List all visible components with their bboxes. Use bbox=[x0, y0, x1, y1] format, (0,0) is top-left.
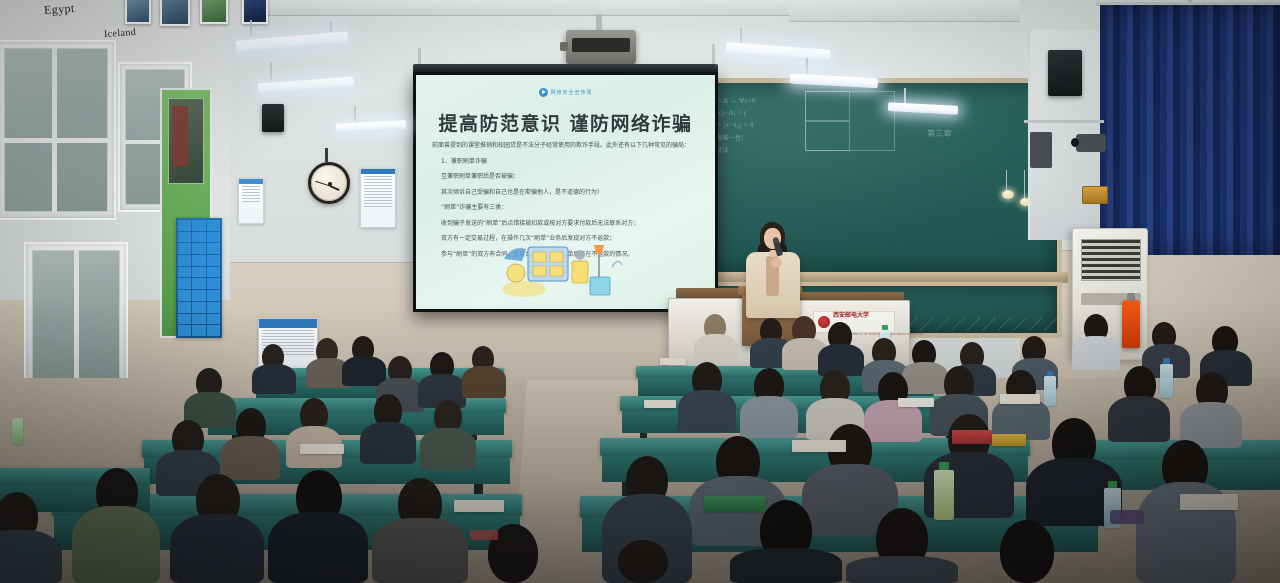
security-camera bbox=[1076, 134, 1106, 152]
light-rod-4 bbox=[354, 106, 356, 122]
student-body bbox=[268, 512, 368, 583]
open-book bbox=[1000, 394, 1040, 404]
student-body bbox=[360, 422, 416, 464]
student-body bbox=[1072, 336, 1120, 370]
open-book bbox=[792, 440, 846, 452]
photo-label-iceland: Iceland bbox=[104, 27, 137, 40]
slide-line-4: “刷单”诈骗主要有三类： bbox=[432, 203, 701, 214]
student-body bbox=[0, 530, 62, 583]
notice-safety bbox=[238, 178, 264, 224]
window-left-1 bbox=[0, 40, 116, 220]
water-bottle bbox=[934, 470, 954, 520]
open-book bbox=[898, 398, 934, 407]
wall-alarm-panel bbox=[1082, 186, 1108, 204]
photo-label-egypt: Egypt bbox=[44, 1, 76, 18]
clock-mount bbox=[325, 148, 328, 162]
water-bottle bbox=[1044, 376, 1056, 406]
slide-line-3: 其次倾诉自己受骗和自己也是在欺骗他人，是不道德的行为） bbox=[432, 188, 701, 199]
wall-photo-0 bbox=[125, 0, 151, 24]
student-body bbox=[730, 548, 842, 583]
pencil-case bbox=[1110, 510, 1144, 524]
door-poster bbox=[172, 106, 188, 166]
light-rod-7 bbox=[904, 88, 906, 104]
projection-screen: 网络安全宣传周 提高防范意识 谨防网络诈骗 前面曾提到的课堂推销和校园贷是不法分… bbox=[413, 72, 718, 312]
light-rod-3 bbox=[270, 62, 272, 80]
student-body bbox=[740, 396, 798, 438]
slide-logo: 网络安全宣传周 bbox=[538, 88, 592, 97]
slide-line-2: 互兼职刷单兼职后是否被骗： bbox=[432, 172, 701, 183]
open-book bbox=[644, 400, 676, 408]
slide-line-1: 1、兼职刷单诈骗 bbox=[432, 157, 701, 168]
slide-content: 网络安全宣传周 提高防范意识 谨防网络诈骗 前面曾提到的课堂推销和校园贷是不法分… bbox=[416, 75, 715, 309]
student-body bbox=[678, 390, 736, 432]
window-left-2 bbox=[24, 242, 128, 392]
wall-mounted-box bbox=[1030, 132, 1052, 168]
red-notebook bbox=[952, 430, 992, 444]
water-bottle bbox=[1160, 364, 1173, 398]
student-body bbox=[342, 356, 386, 386]
ceiling-beam bbox=[230, 0, 790, 16]
classroom-photo: Egypt Iceland bbox=[0, 0, 1280, 583]
wall-photo-2 bbox=[200, 0, 228, 24]
slide-title: 提高防范意识 谨防网络诈骗 bbox=[416, 109, 715, 136]
open-book bbox=[660, 358, 686, 365]
student-body bbox=[902, 362, 948, 394]
yellow-notebook bbox=[992, 434, 1026, 446]
student-head bbox=[1000, 520, 1054, 583]
fire-extinguisher bbox=[1122, 300, 1140, 348]
light-rod-6 bbox=[806, 58, 808, 76]
presenter bbox=[744, 222, 802, 318]
student-body bbox=[220, 436, 280, 480]
projector-mount bbox=[596, 14, 602, 30]
window-curtain bbox=[1100, 5, 1280, 255]
right-speaker bbox=[1048, 50, 1082, 96]
slide-logo-text: 网络安全宣传周 bbox=[550, 89, 592, 96]
student-body bbox=[694, 334, 738, 364]
student-head bbox=[618, 540, 668, 583]
pencil-case bbox=[470, 530, 498, 540]
open-book bbox=[300, 444, 344, 454]
university-seal-icon bbox=[818, 316, 830, 328]
slide-illustration bbox=[494, 229, 634, 303]
student-body bbox=[1108, 396, 1170, 442]
student-body bbox=[170, 514, 264, 583]
student-body bbox=[420, 428, 476, 470]
green-notebook bbox=[704, 496, 766, 512]
desk-right-r2-front bbox=[622, 411, 978, 433]
left-speaker bbox=[262, 104, 284, 132]
light-rod-1 bbox=[250, 20, 252, 36]
university-name: 西安邮电大学 bbox=[833, 313, 869, 319]
student-body bbox=[462, 366, 506, 398]
student-body bbox=[72, 506, 160, 583]
wall-photo-3 bbox=[242, 0, 268, 24]
notice-class-schedule bbox=[360, 168, 396, 228]
student-body bbox=[252, 364, 296, 394]
ceiling-projector bbox=[566, 30, 636, 64]
wall-clock bbox=[308, 162, 350, 204]
open-book bbox=[1180, 494, 1238, 510]
slide-line-0: 前面曾提到的课堂推销和校园贷是不法分子经常使用的欺诈手段。此外还有以下几种常见的… bbox=[432, 141, 701, 152]
student-body bbox=[372, 518, 468, 583]
window-mullion bbox=[1024, 120, 1104, 123]
slide-line-5: 收到骗子发送的“刷单”后点错接被扣款或按对方要求付款后无法联系对方； bbox=[432, 219, 701, 230]
water-bottle bbox=[12, 418, 23, 444]
wall-calendar bbox=[176, 218, 222, 338]
wall-photo-1 bbox=[160, 0, 190, 26]
open-book bbox=[454, 500, 504, 512]
play-icon bbox=[538, 88, 547, 97]
student-body bbox=[846, 556, 958, 583]
